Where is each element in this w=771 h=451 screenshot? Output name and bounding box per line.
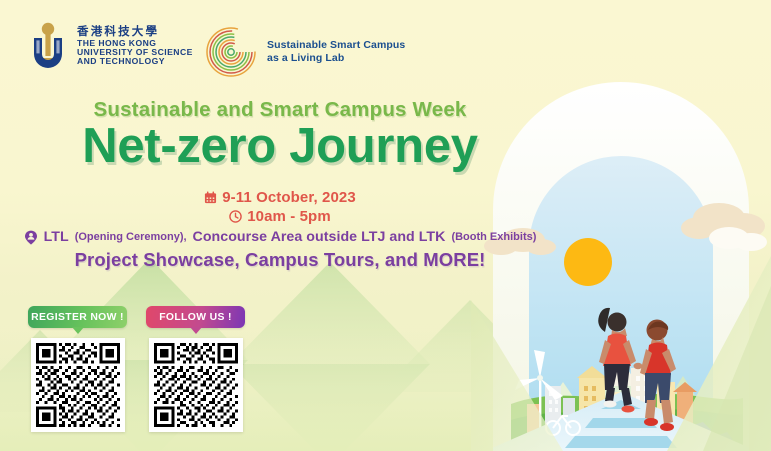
venue-part1: LTL [44, 229, 69, 245]
sun-icon [564, 238, 612, 286]
hkust-crest-icon [28, 22, 68, 70]
showcase-line: Project Showcase, Campus Tours, and MORE… [0, 249, 560, 271]
cta-group: REGISTER NOW ! [28, 306, 245, 432]
headline-block: Sustainable and Smart Campus Week Net-ze… [0, 98, 560, 173]
register-now-button[interactable]: REGISTER NOW ! [28, 306, 127, 328]
register-column: REGISTER NOW ! [28, 306, 127, 432]
hkust-chinese-name: 香港科技大學 [77, 26, 193, 38]
venue-block: LTL (Opening Ceremony), Concourse Area o… [0, 229, 560, 271]
time-row: 10am - 5pm [0, 207, 560, 226]
register-qr-code[interactable] [31, 338, 125, 432]
hkust-logo: 香港科技大學 THE HONG KONG UNIVERSITY OF SCIEN… [28, 22, 193, 70]
register-qr-svg [36, 343, 120, 427]
follow-qr-svg [154, 343, 238, 427]
location-pin-person-icon [24, 230, 38, 245]
event-title: Net-zero Journey [0, 120, 560, 173]
concentric-rings-icon [205, 26, 257, 78]
poster-canvas: 香港科技大學 THE HONG KONG UNIVERSITY OF SCIEN… [0, 0, 771, 451]
event-date: 9-11 October, 2023 [222, 189, 356, 206]
date-row: 9-11 October, 2023 [0, 188, 560, 207]
hkust-english-line3: AND TECHNOLOGY [77, 57, 193, 66]
logo-row: 香港科技大學 THE HONG KONG UNIVERSITY OF SCIEN… [0, 0, 520, 92]
ssc-line2: as a Living Lab [267, 52, 405, 65]
clock-icon [229, 210, 242, 223]
venue-part3: Concourse Area outside LTJ and LTK [193, 229, 446, 245]
venue-row: LTL (Opening Ceremony), Concourse Area o… [0, 229, 560, 245]
ssc-logo: Sustainable Smart Campus as a Living Lab [205, 26, 405, 78]
venue-part2: (Opening Ceremony), [75, 231, 187, 243]
event-meta: 9-11 October, 2023 10am - 5pm [0, 188, 560, 226]
venue-part4: (Booth Exhibits) [451, 231, 536, 243]
event-time: 10am - 5pm [247, 208, 331, 225]
follow-qr-code[interactable] [149, 338, 243, 432]
follow-us-button[interactable]: FOLLOW US ! [146, 306, 245, 328]
ssc-line1: Sustainable Smart Campus [267, 39, 405, 52]
follow-column: FOLLOW US ! [146, 306, 245, 432]
calendar-icon [204, 191, 217, 204]
